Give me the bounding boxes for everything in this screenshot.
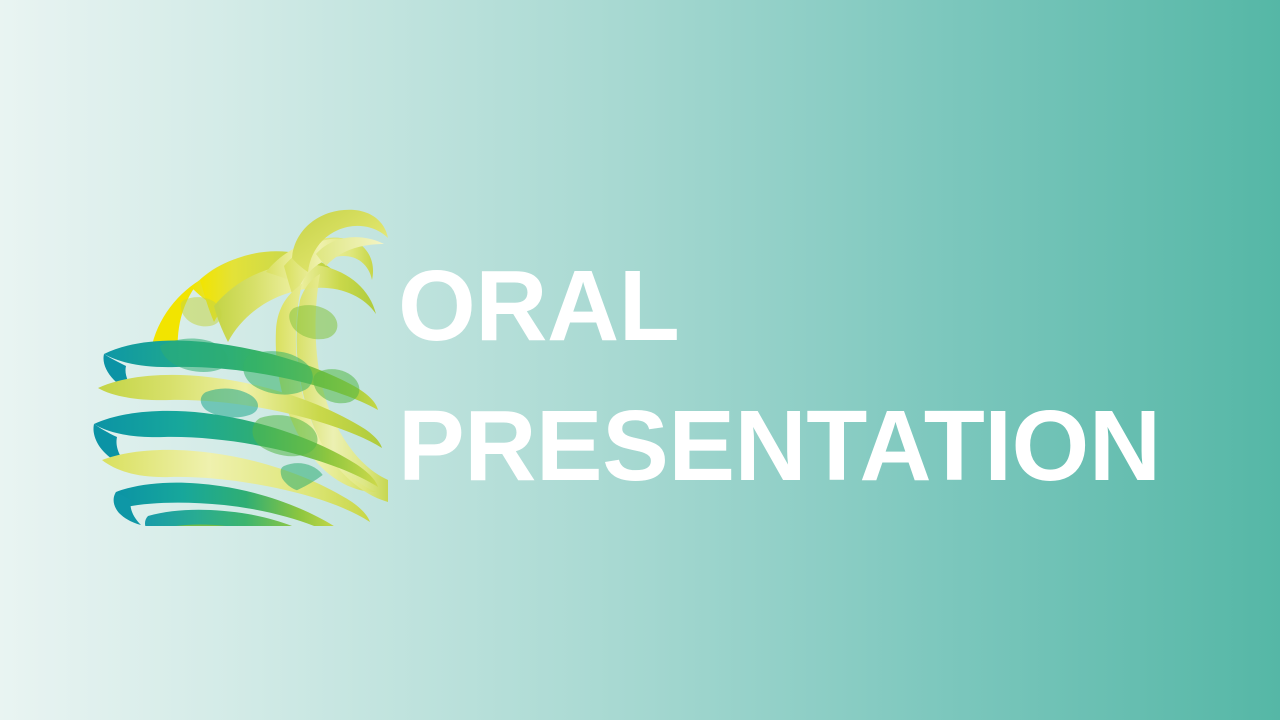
slide-title: ORAL PRESENTATION xyxy=(398,236,1258,516)
globe-leaf-icon xyxy=(292,210,388,272)
title-line-2: PRESENTATION xyxy=(398,376,1258,516)
presentation-slide: ORAL PRESENTATION xyxy=(0,0,1280,720)
spiral-ribbon-globe-logo xyxy=(88,196,388,526)
title-line-1: ORAL xyxy=(398,236,1258,376)
